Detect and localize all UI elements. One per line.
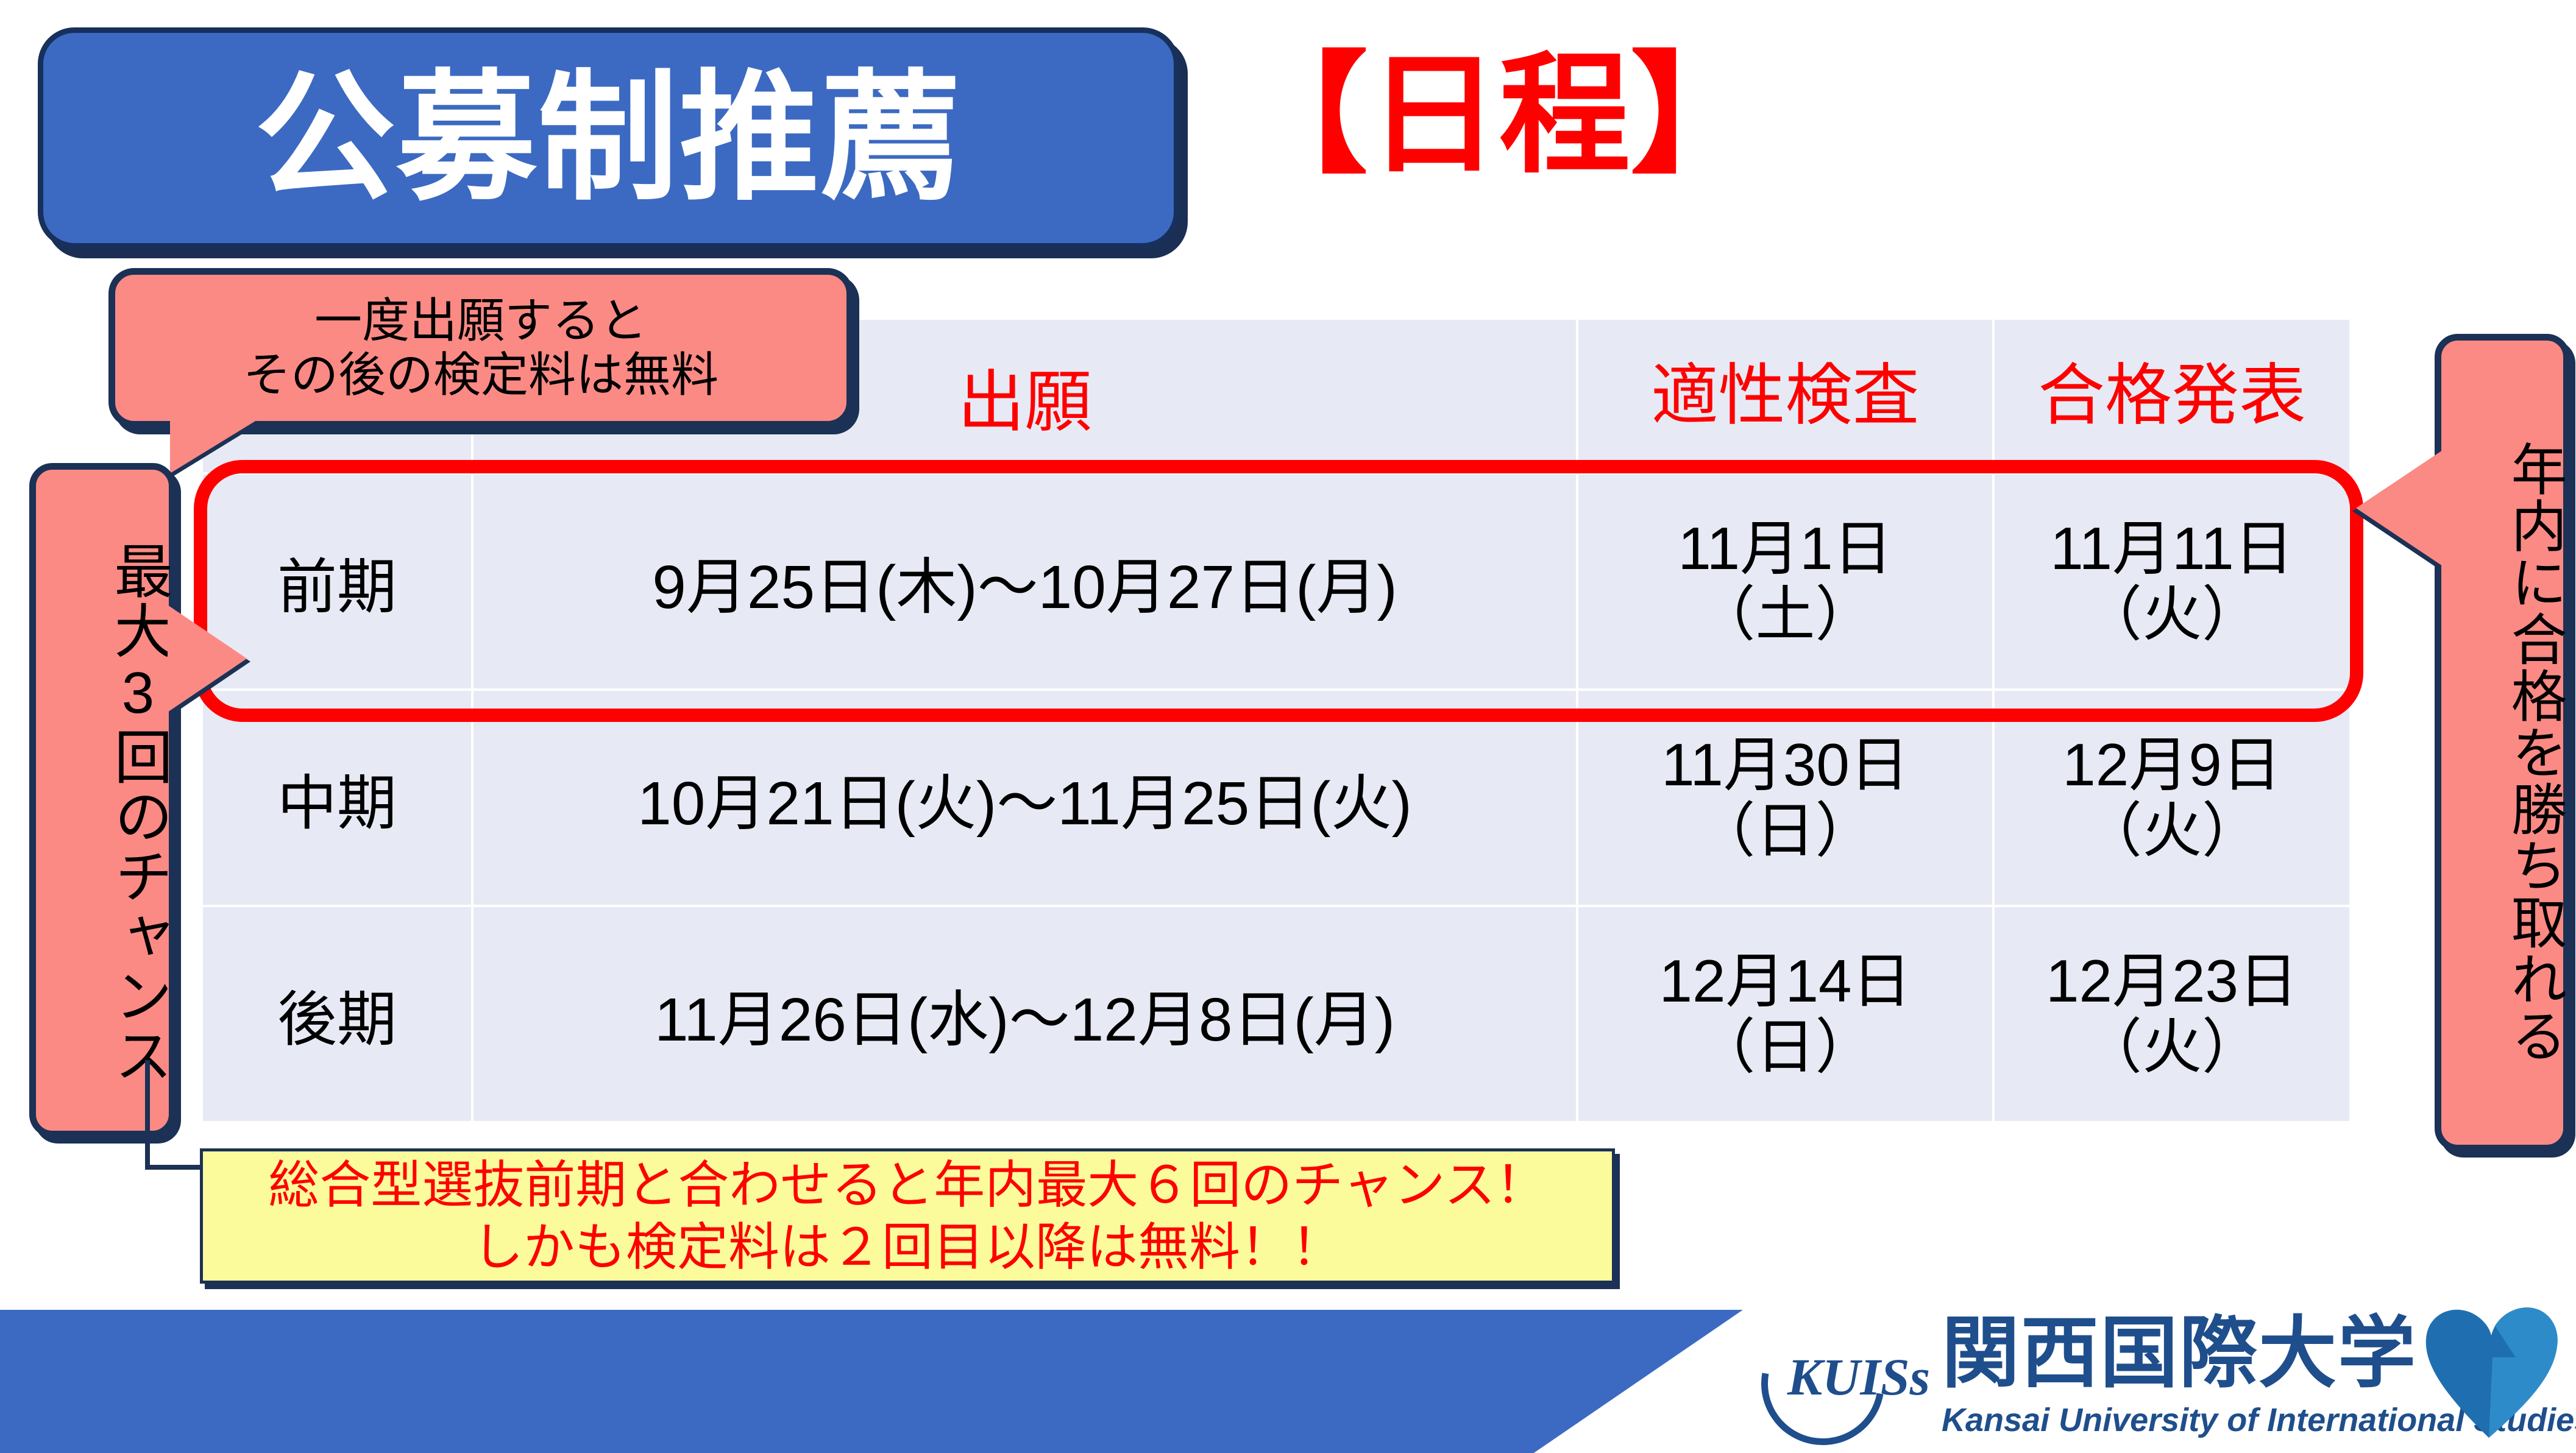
- table-row: 前期 9月25日(木)～10月27日(月) 11月1日 （土） 11月11日 （…: [203, 472, 2349, 688]
- cell-result: 11月11日 （火）: [1995, 475, 2349, 688]
- cell-term: 後期: [203, 907, 474, 1121]
- connector-line-horizontal: [145, 1165, 205, 1170]
- cell-result-date: 11月11日: [2050, 516, 2293, 582]
- table-header-exam: 適性検査: [1578, 320, 1995, 472]
- callout-three-chances: 最大3回のチャンス: [29, 463, 176, 1137]
- cell-exam: 11月30日 （日）: [1578, 691, 1995, 905]
- table-row: 後期 11月26日(水)～12月8日(月) 12月14日 （日） 12月23日 …: [203, 905, 2349, 1121]
- cell-result-date: 12月23日: [2046, 949, 2298, 1014]
- callout-three-chances-label: 最大3回のチャンス: [36, 470, 169, 1131]
- cell-exam-day: （日）: [1695, 1014, 1875, 1080]
- cell-result: 12月9日 （火）: [1995, 691, 2349, 905]
- cell-exam-date: 12月14日: [1659, 949, 1911, 1014]
- connector-line-vertical: [145, 1060, 150, 1170]
- kuiss-wordmark: KUISs: [1787, 1346, 1930, 1407]
- cell-result-day: （火）: [2082, 1014, 2262, 1080]
- note-box: 総合型選抜前期と合わせると年内最大６回のチャンス！ しかも検定料は２回目以降は無…: [200, 1148, 1615, 1284]
- cell-application: 11月26日(水)～12月8日(月): [474, 907, 1578, 1121]
- cell-exam-date: 11月30日: [1661, 732, 1909, 798]
- cell-term: 中期: [203, 691, 474, 905]
- cell-application: 9月25日(木)～10月27日(月): [474, 475, 1578, 688]
- cell-result-date: 12月9日: [2062, 732, 2282, 798]
- cell-result: 12月23日 （火）: [1995, 907, 2349, 1121]
- kuiss-mark-icon: KUISs: [1755, 1316, 1938, 1438]
- page-title: 【日程】: [1237, 34, 1761, 197]
- callout-fee-free-line1: 一度出願すると: [243, 294, 719, 348]
- table-row: 中期 10月21日(火)～11月25日(火) 11月30日 （日） 12月9日 …: [203, 688, 2349, 905]
- cell-exam: 11月1日 （土）: [1578, 475, 1995, 688]
- callout-arrow-icon: [168, 605, 247, 712]
- callout-tail: [170, 417, 261, 473]
- title-badge-label: 公募制推薦: [255, 68, 962, 208]
- callout-fee-free-line2: その後の検定料は無料: [243, 348, 719, 402]
- cell-result-day: （火）: [2082, 582, 2262, 648]
- cell-exam-day: （土）: [1695, 582, 1875, 648]
- note-line2: しかも検定料は２回目以降は無料！！: [472, 1216, 1343, 1278]
- note-line1: 総合型選抜前期と合わせると年内最大６回のチャンス！: [268, 1154, 1546, 1216]
- callout-pass-within-year: 年内に合格を勝ち取れる: [2435, 334, 2570, 1151]
- callout-arrow-icon: [2356, 450, 2443, 566]
- cell-application: 10月21日(火)～11月25日(火): [474, 691, 1578, 905]
- title-badge: 公募制推薦: [38, 27, 1179, 249]
- heart-icon: [2416, 1299, 2562, 1439]
- footer-banner: [0, 1310, 1743, 1453]
- cell-result-day: （火）: [2082, 798, 2262, 864]
- schedule-table: 出願 適性検査 合格発表 前期 9月25日(木)～10月27日(月) 11月1日…: [203, 320, 2349, 1121]
- cell-exam-date: 11月1日: [1678, 516, 1892, 582]
- university-logo: KUISs 関西国際大学 Kansai University of Intern…: [1755, 1304, 2566, 1450]
- table-header-result: 合格発表: [1995, 320, 2349, 472]
- slide-canvas: 公募制推薦 【日程】 出願 適性検査 合格発表 前期 9月25日(木)～10月2…: [0, 0, 2576, 1453]
- cell-exam: 12月14日 （日）: [1578, 907, 1995, 1121]
- callout-fee-free: 一度出願すると その後の検定料は無料: [108, 268, 853, 428]
- callout-pass-within-year-label: 年内に合格を勝ち取れる: [2441, 341, 2563, 1145]
- cell-exam-day: （日）: [1695, 798, 1875, 864]
